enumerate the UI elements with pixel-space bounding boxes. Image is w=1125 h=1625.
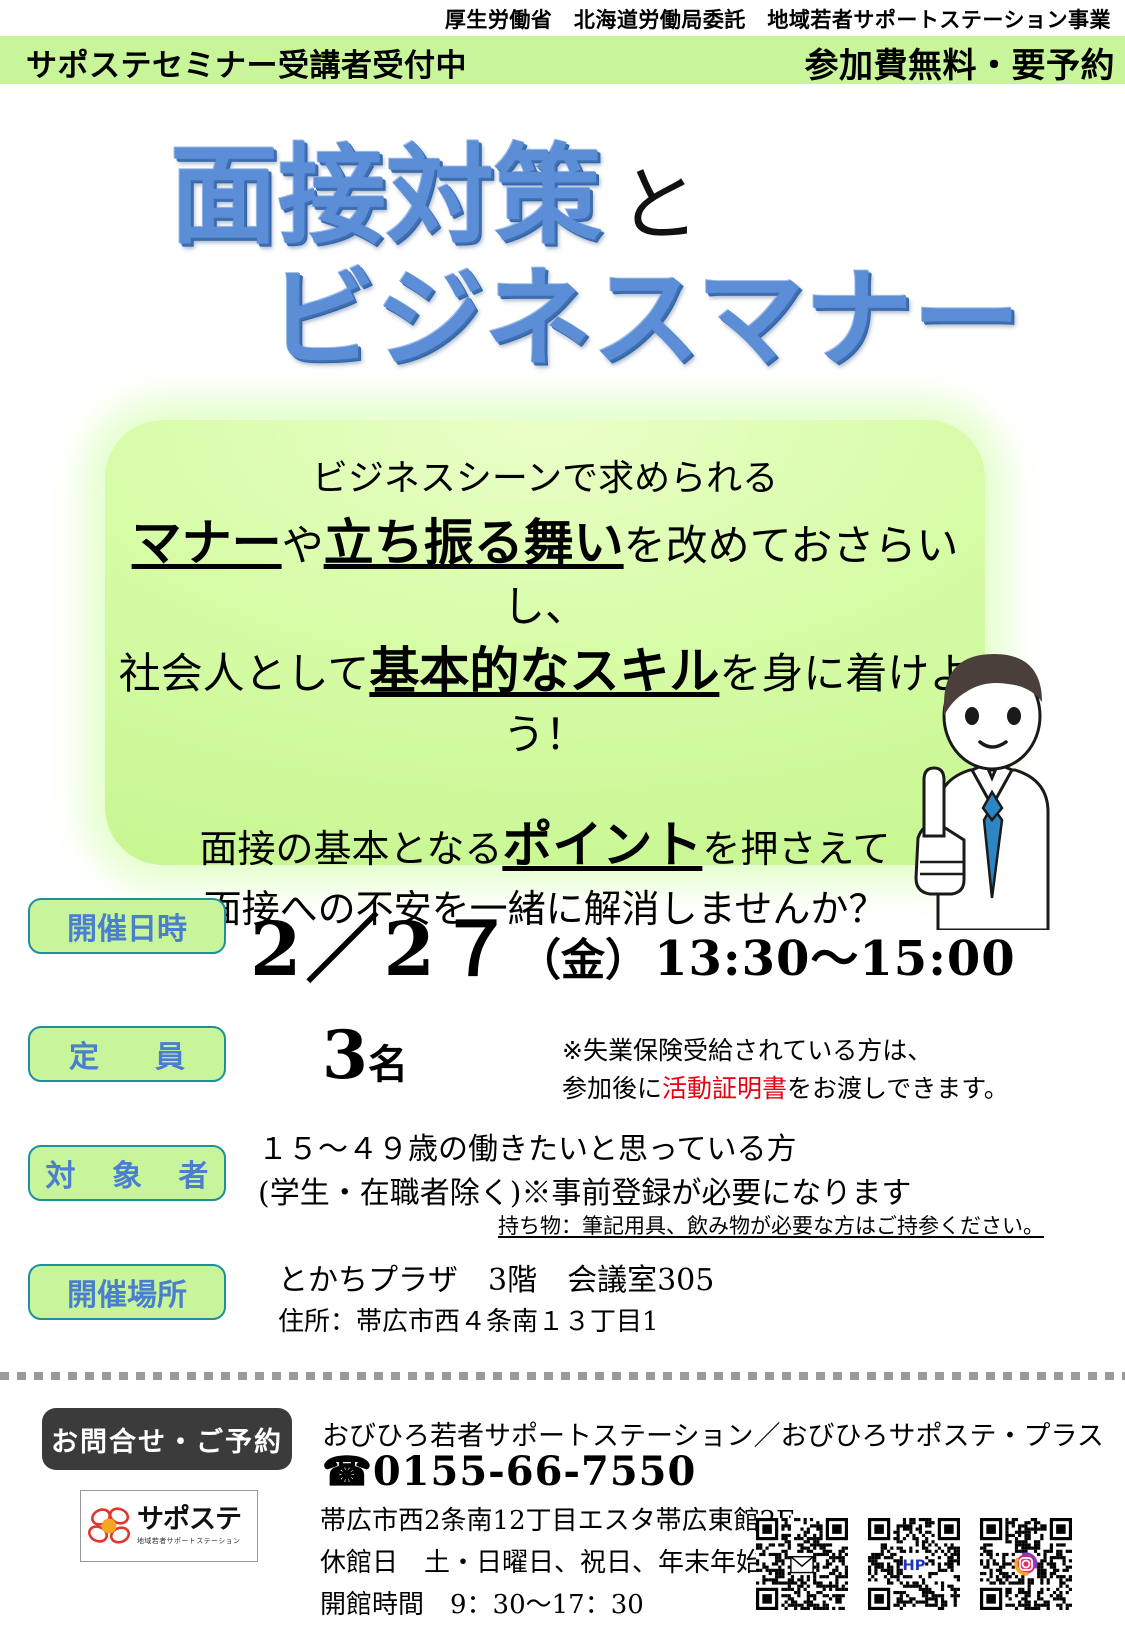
label-capacity: 定 員	[28, 1026, 226, 1082]
desc-emph-behavior: 立ち振る舞い	[324, 514, 624, 572]
capacity-number: 3	[322, 1016, 368, 1094]
saposute-logo: サポステ 地域若者サポートステーション	[80, 1490, 258, 1562]
desc-emph-manner: マナー	[132, 514, 282, 572]
desc-line-2: マナーや立ち振る舞いを改めておさらいし、	[105, 508, 985, 637]
svg-text:HP: HP	[903, 1557, 926, 1574]
capacity-note-line2-a: 参加後に	[562, 1074, 662, 1103]
capacity-unit: 名	[368, 1041, 408, 1088]
description-text: ビジネスシーンで求められる マナーや立ち振る舞いを改めておさらいし、 社会人とし…	[105, 455, 985, 937]
desc-emph-skill: 基本的なスキル	[369, 642, 719, 700]
capacity-note-line1: ※失業保険受給されている方は、	[562, 1032, 1009, 1070]
title-conjunction: と	[602, 158, 700, 253]
date-number: 2／2７	[250, 907, 517, 993]
detail-row-capacity: 定 員	[28, 1026, 226, 1082]
dashed-divider	[0, 1372, 1125, 1380]
desc-line4-a: 面接の基本となる	[200, 827, 503, 871]
label-place: 開催場所	[28, 1264, 226, 1320]
target-line2: (学生・在職者除く)※事前登録が必要になります	[258, 1172, 911, 1216]
value-target: １５～４９歳の働きたいと思っている方 (学生・在職者除く)※事前登録が必要になり…	[258, 1128, 911, 1215]
saposute-logo-subtext: 地域若者サポートステーション	[137, 1536, 241, 1546]
poster-root: 厚生労働省 北海道労働局委託 地域若者サポートステーション事業 サポステセミナー…	[0, 0, 1125, 1625]
desc-line3-a: 社会人として	[119, 649, 370, 698]
detail-row-place: 開催場所	[28, 1264, 226, 1320]
desc-line4-c: を押さえて	[702, 827, 890, 871]
place-address: 住所：帯広市西４条南１３丁目1	[278, 1303, 714, 1342]
instagram-qr-code[interactable]	[980, 1518, 1072, 1610]
footer-closed-days: 休館日 土・日曜日、祝日、年末年始・他	[320, 1542, 814, 1579]
capacity-note-highlight: 活動証明書	[662, 1074, 787, 1103]
capacity-note: ※失業保険受給されている方は、 参加後に活動証明書をお渡しできます。	[562, 1032, 1009, 1107]
desc-line2-b: や	[282, 521, 324, 570]
bring-items-note: 持ち物：筆記用具、飲み物が必要な方はご持参ください。	[498, 1210, 1044, 1240]
qr-center-badge	[791, 1557, 813, 1573]
desc-line-1: ビジネスシーンで求められる	[105, 455, 985, 504]
contact-chip: お問合せ・ご予約	[42, 1408, 292, 1470]
label-date: 開催日時	[28, 898, 226, 954]
footer-address: 帯広市西2条南12丁目エスタ帯広東館2F	[320, 1500, 794, 1537]
value-date: 2／2７（金） 13:30〜15:00	[250, 890, 1016, 997]
value-capacity: 3名	[322, 1016, 408, 1094]
footer-open-hours: 開館時間 9：30〜17：30	[320, 1584, 644, 1621]
header-banner-left: サポステセミナー受講者受付中	[26, 40, 467, 85]
footer-telephone[interactable]: ☎0155-66-7550	[322, 1448, 696, 1495]
title-line1-main: 面接対策	[170, 134, 602, 259]
desc-line-3: 社会人として基本的なスキルを身に着けよう！	[105, 636, 985, 765]
label-target: 対 象 者	[28, 1145, 226, 1201]
value-place: とかちプラザ 3階 会議室305 住所：帯広市西４条南１３丁目1	[278, 1258, 714, 1342]
date-dayofweek: （金）	[517, 935, 649, 986]
desc-line-4: 面接の基本となるポイントを押さえて	[105, 809, 985, 882]
capacity-note-line2: 参加後に活動証明書をお渡しできます。	[562, 1070, 1009, 1108]
businessman-pointing-illustration	[880, 630, 1080, 930]
place-venue: とかちプラザ 3階 会議室305	[278, 1258, 714, 1303]
hp-qr-code[interactable]: HP	[868, 1518, 960, 1610]
desc-emph-point: ポイント	[502, 816, 702, 874]
detail-row-date: 開催日時	[28, 898, 226, 954]
capacity-note-line2-b: をお渡しできます。	[787, 1074, 1009, 1103]
saposute-flower-icon	[87, 1504, 133, 1548]
title-line2-main: ビジネスマナー	[268, 257, 1021, 382]
government-line: 厚生労働省 北海道労働局委託 地域若者サポートステーション事業	[0, 4, 1125, 34]
page-title: 面接対策と ビジネスマナー	[0, 140, 1125, 377]
qr-center-badge: HP	[903, 1556, 926, 1574]
saposute-logo-text: サポステ	[137, 1506, 241, 1533]
date-time-range: 13:30〜15:00	[654, 931, 1016, 987]
target-line1: １５～４９歳の働きたいと思っている方	[258, 1128, 911, 1172]
mail-qr-code[interactable]	[756, 1518, 848, 1610]
detail-row-target: 対 象 者	[28, 1145, 226, 1201]
header-banner-right: 参加費無料・要予約	[805, 38, 1116, 87]
